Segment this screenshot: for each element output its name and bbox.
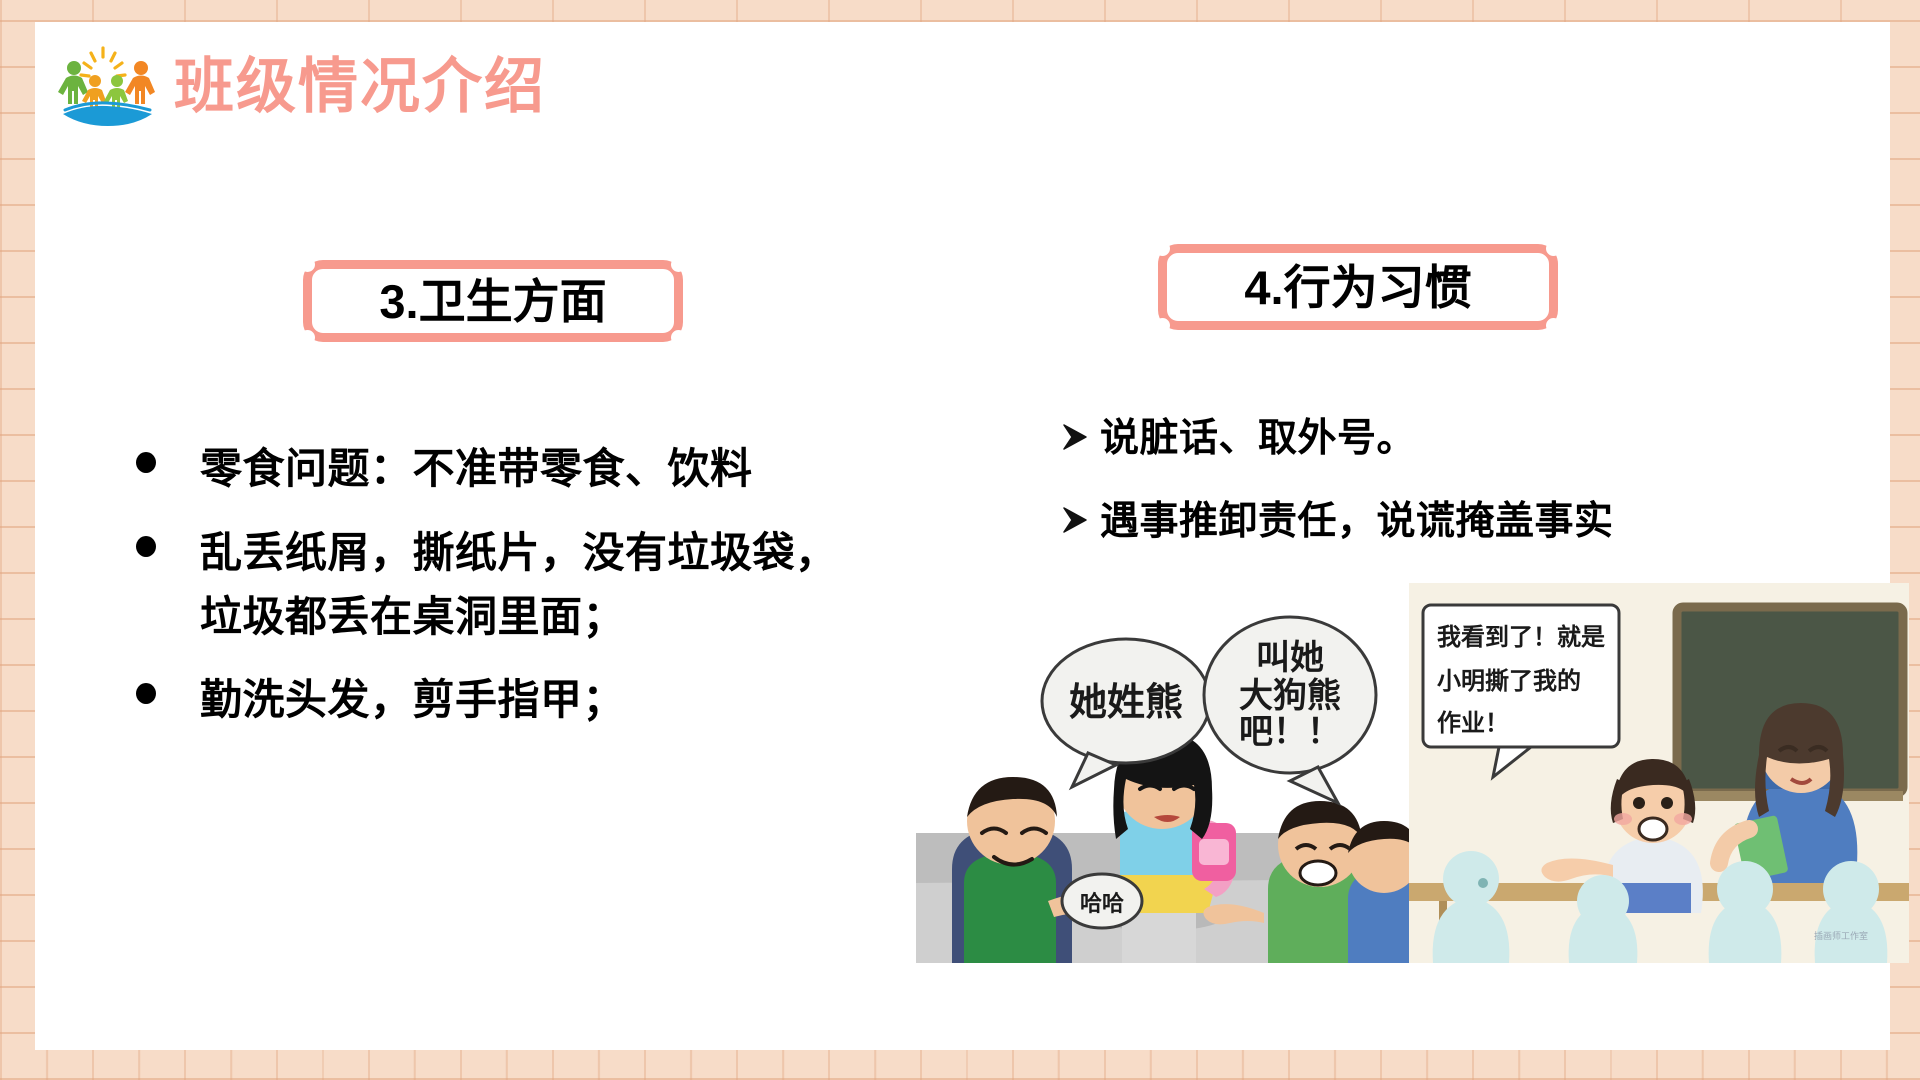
classroom-blame-cartoon: 我看到了！就是 小明撕了我的 作业！ 插画师工作室: [1409, 583, 1909, 963]
section-heading-hygiene: 3.卫生方面: [303, 260, 683, 342]
svg-text:小明撕了我的: 小明撕了我的: [1437, 667, 1581, 695]
chip-corner-dot: [300, 257, 315, 272]
list-item-label: 乱丢纸屑，撕纸片，没有垃圾袋，垃圾都丢在桌洞里面；: [200, 521, 850, 649]
section-heading-behavior: 4.行为习惯: [1158, 244, 1558, 330]
svg-text:哈哈: 哈哈: [1080, 891, 1124, 916]
chip-corner-dot: [671, 330, 686, 345]
svg-text:大狗熊: 大狗熊: [1239, 676, 1341, 715]
svg-text:我看到了！就是: 我看到了！就是: [1437, 623, 1605, 651]
bullet-dot-icon: [136, 683, 156, 704]
list-item-label: 遇事推卸责任，说谎掩盖事实: [1100, 495, 1614, 550]
bullet-dot-icon: [136, 452, 156, 473]
chip-corner-dot: [1155, 318, 1170, 333]
chip-corner-dot: [1546, 318, 1561, 333]
chip-corner-dot: [1546, 241, 1561, 256]
svg-text:叫她: 叫她: [1256, 639, 1324, 677]
svg-text:吧！！: 吧！！: [1239, 713, 1341, 751]
section-heading-label: 3.卫生方面: [373, 278, 612, 325]
list-item: 说脏话、取外号。: [1060, 412, 1760, 467]
list-item: 零食问题：不准带零食、饮料: [130, 437, 850, 501]
slide-card: 班级情况介绍 3.卫生方面 4.行为习惯 零食问题：不准带零食、饮料 乱丢纸屑，…: [35, 22, 1890, 1050]
svg-text:插画师工作室: 插画师工作室: [1814, 930, 1868, 941]
arrow-bullet-icon: [1060, 503, 1090, 537]
list-item-label: 零食问题：不准带零食、饮料: [200, 437, 753, 501]
svg-text:她姓熊: 她姓熊: [1069, 682, 1183, 724]
list-item-label: 勤洗头发，剪手指甲；: [200, 668, 625, 732]
svg-text:作业！: 作业！: [1437, 710, 1509, 737]
chip-corner-dot: [1155, 241, 1170, 256]
list-item: 乱丢纸屑，撕纸片，没有垃圾袋，垃圾都丢在桌洞里面；: [130, 521, 850, 649]
slide-header: 班级情况介绍: [55, 44, 546, 129]
hygiene-bullet-list: 零食问题：不准带零食、饮料 乱丢纸屑，撕纸片，没有垃圾袋，垃圾都丢在桌洞里面； …: [130, 437, 850, 752]
chip-corner-dot: [671, 257, 686, 272]
behavior-bullet-list: 说脏话、取外号。 遇事推卸责任，说谎掩盖事实: [1060, 412, 1760, 577]
list-item-label: 说脏话、取外号。: [1100, 412, 1416, 467]
school-children-logo-icon: [55, 44, 160, 129]
list-item: 勤洗头发，剪手指甲；: [130, 668, 850, 732]
bullying-nickname-cartoon: 她姓熊 叫她 大狗熊 吧！！ 哈哈: [916, 583, 1409, 963]
chip-corner-dot: [300, 330, 315, 345]
list-item: 遇事推卸责任，说谎掩盖事实: [1060, 495, 1760, 550]
page-title: 班级情况介绍: [174, 57, 546, 117]
bullet-dot-icon: [136, 536, 156, 557]
arrow-bullet-icon: [1060, 420, 1090, 454]
section-heading-label: 4.行为习惯: [1238, 264, 1477, 311]
